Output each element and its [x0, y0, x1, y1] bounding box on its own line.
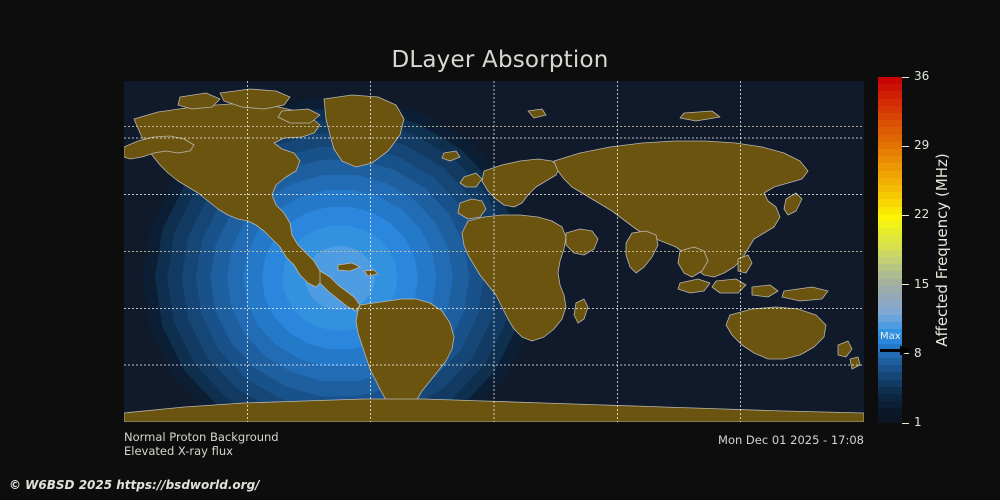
- colorbar-band-25: [878, 257, 902, 264]
- colorbar-band-11: [878, 156, 902, 163]
- colorbar-band-38: [878, 351, 902, 358]
- colorbar-band-47: [878, 416, 902, 423]
- note-xray-flux: Elevated X-ray flux: [124, 444, 233, 458]
- note-proton-background: Normal Proton Background: [124, 430, 279, 444]
- colorbar-band-28: [878, 279, 902, 286]
- colorbar-band-3: [878, 99, 902, 106]
- colorbar-band-22: [878, 235, 902, 242]
- colorbar-band-32: [878, 308, 902, 315]
- colorbar-band-19: [878, 214, 902, 221]
- dlayer-absorption-figure: DLayer Absorption: [0, 0, 1000, 500]
- page-title: DLayer Absorption: [0, 47, 1000, 73]
- colorbar-band-9: [878, 142, 902, 149]
- colorbar-band-29: [878, 286, 902, 293]
- tick-dash-icon: [902, 146, 909, 147]
- colorbar-axis-label: Affected Frequency (MHz): [930, 77, 954, 423]
- colorbar-band-24: [878, 250, 902, 257]
- colorbar-band-34: [878, 322, 902, 329]
- colorbar-band-42: [878, 380, 902, 387]
- colorbar-band-31: [878, 300, 902, 307]
- colorbar-band-7: [878, 127, 902, 134]
- colorbar-band-43: [878, 387, 902, 394]
- colorbar-band-0: [878, 77, 902, 84]
- colorbar-band-6: [878, 120, 902, 127]
- colorbar-band-2: [878, 91, 902, 98]
- colorbar-band-26: [878, 264, 902, 271]
- map-canvas: [124, 81, 864, 422]
- colorbar-band-15: [878, 185, 902, 192]
- colorbar-tick-label: 15: [914, 278, 929, 290]
- colorbar-band-17: [878, 199, 902, 206]
- colorbar-band-37: [878, 344, 902, 351]
- colorbar-band-1: [878, 84, 902, 91]
- colorbar-band-46: [878, 408, 902, 415]
- colorbar-tick-label: 8: [914, 347, 922, 359]
- colorbar-band-10: [878, 149, 902, 156]
- colorbar: [878, 77, 902, 423]
- colorbar-band-21: [878, 228, 902, 235]
- colorbar-tick-label: 1: [914, 416, 922, 428]
- colorbar-band-40: [878, 365, 902, 372]
- colorbar-band-30: [878, 293, 902, 300]
- colorbar-band-4: [878, 106, 902, 113]
- colorbar-band-23: [878, 243, 902, 250]
- colorbar-band-12: [878, 163, 902, 170]
- colorbar-band-44: [878, 394, 902, 401]
- timestamp: Mon Dec 01 2025 - 17:08: [718, 433, 864, 447]
- colorbar-band-18: [878, 207, 902, 214]
- tick-dash-icon: [902, 353, 909, 354]
- tick-dash-icon: [902, 284, 909, 285]
- copyright: © W6BSD 2025 https://bsdworld.org/: [9, 478, 260, 492]
- tick-dash-icon: [902, 215, 909, 216]
- colorbar-band-5: [878, 113, 902, 120]
- colorbar-tick-label: 36: [914, 70, 929, 82]
- colorbar-band-41: [878, 372, 902, 379]
- colorbar-band-8: [878, 135, 902, 142]
- tick-dash-icon: [902, 77, 909, 78]
- colorbar-band-45: [878, 401, 902, 408]
- colorbar-band-16: [878, 192, 902, 199]
- colorbar-band-35: [878, 329, 902, 336]
- colorbar-band-13: [878, 171, 902, 178]
- colorbar-tick-label: 22: [914, 208, 929, 220]
- colorbar-band-27: [878, 271, 902, 278]
- colorbar-band-33: [878, 315, 902, 322]
- colorbar-tick-label: 29: [914, 139, 929, 151]
- world-map: [124, 81, 864, 422]
- tick-dash-icon: [902, 423, 909, 424]
- colorbar-band-14: [878, 178, 902, 185]
- colorbar-band-20: [878, 221, 902, 228]
- colorbar-band-36: [878, 336, 902, 343]
- colorbar-band-39: [878, 358, 902, 365]
